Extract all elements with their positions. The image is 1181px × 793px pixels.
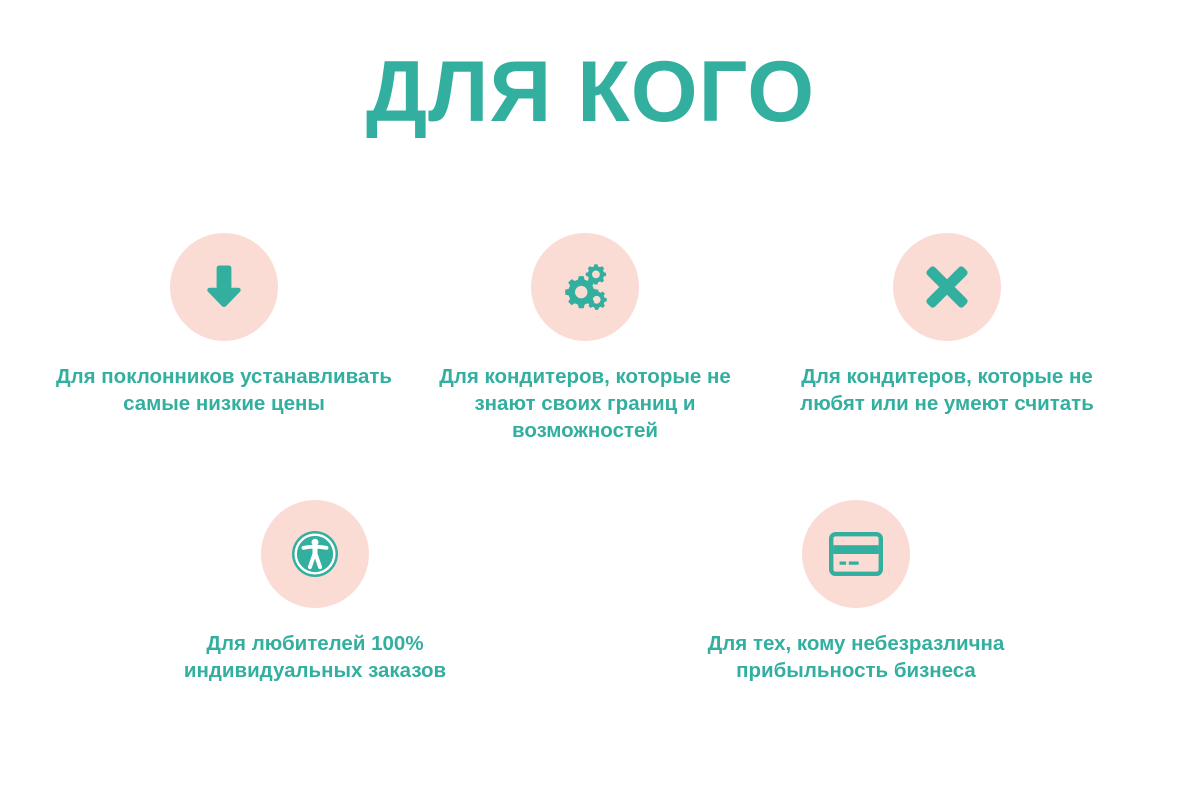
icon-circle [170, 233, 278, 341]
feature-card-caption: Для любителей 100% индивидуальных заказо… [145, 630, 485, 684]
feature-card-individual-orders: Для любителей 100% индивидуальных заказо… [145, 500, 485, 684]
icon-circle [802, 500, 910, 608]
icon-circle [261, 500, 369, 608]
for-whom-section: ДЛЯ КОГО Для поклонников устанавливать с… [0, 0, 1181, 793]
page-title: ДЛЯ КОГО [0, 44, 1181, 140]
gears-icon [557, 259, 613, 315]
icon-circle [531, 233, 639, 341]
close-x-icon [922, 262, 972, 312]
universal-access-icon [291, 530, 339, 578]
arrow-down-icon [198, 261, 250, 313]
feature-card-caption: Для тех, кому небезразлична прибыльность… [686, 630, 1026, 684]
feature-card-caption: Для кондитеров, которые не знают своих г… [415, 363, 755, 444]
feature-card-dislike-counting: Для кондитеров, которые не любят или не … [777, 233, 1117, 417]
feature-card-no-limits: Для кондитеров, которые не знают своих г… [415, 233, 755, 444]
credit-card-icon [829, 532, 883, 576]
feature-card-caption: Для кондитеров, которые не любят или не … [777, 363, 1117, 417]
feature-card-caption: Для поклонников устанавливать самые низк… [54, 363, 394, 417]
feature-card-business-profit: Для тех, кому небезразлична прибыльность… [686, 500, 1026, 684]
feature-card-low-prices: Для поклонников устанавливать самые низк… [54, 233, 394, 417]
icon-circle [893, 233, 1001, 341]
